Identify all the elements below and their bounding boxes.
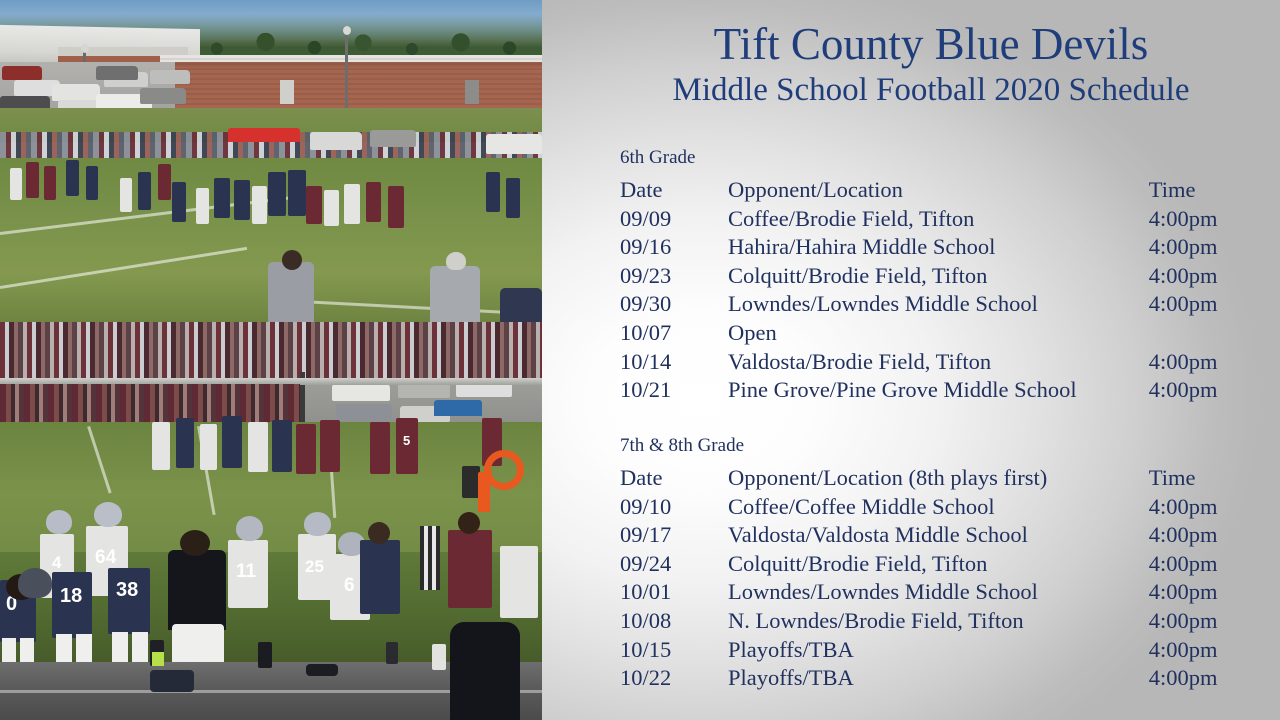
cell-date: 09/09	[620, 205, 728, 234]
opposing-coach	[448, 530, 492, 608]
jersey-number: 11	[236, 562, 256, 581]
cell-date: 09/17	[620, 521, 728, 550]
cell-opponent: N. Lowndes/Brodie Field, Tifton	[728, 607, 1149, 636]
cell-opponent: Pine Grove/Pine Grove Middle School	[728, 376, 1149, 405]
table-row: 09/30 Lowndes/Lowndes Middle School 4:00…	[620, 290, 1270, 319]
down-marker-ring-icon	[484, 450, 524, 490]
jersey-number: 6	[344, 576, 355, 595]
player	[222, 416, 242, 468]
column-header-time: Time	[1149, 176, 1270, 205]
title-block: Tift County Blue Devils Middle School Fo…	[588, 22, 1274, 111]
table-row: 09/16 Hahira/Hahira Middle School 4:00pm	[620, 233, 1270, 262]
water-bottle	[432, 644, 446, 670]
jersey-number: 4	[52, 554, 61, 571]
brick-building-main	[160, 55, 542, 110]
grade-label-6th: 6th Grade	[620, 148, 1270, 167]
cell-opponent: Valdosta/Valdosta Middle School	[728, 521, 1149, 550]
photo-football-game-wide	[0, 0, 542, 322]
table-header-row: Date Opponent/Location (8th plays first)…	[620, 464, 1270, 493]
building-door	[465, 80, 479, 104]
helmet-held	[18, 568, 52, 598]
cell-opponent: Lowndes/Lowndes Middle School	[728, 290, 1149, 319]
light-fixture	[343, 26, 351, 35]
column-header-date: Date	[620, 464, 728, 493]
cell-time: 4:00pm	[1149, 521, 1270, 550]
building-window	[280, 80, 294, 104]
photo-collage: 5 4 64 11 25 6	[0, 0, 542, 720]
red-tent	[228, 128, 300, 142]
player	[370, 422, 390, 474]
bleacher-crowd-lower	[0, 384, 300, 426]
cell-opponent: Coffee/Coffee Middle School	[728, 493, 1149, 522]
cell-date: 09/24	[620, 550, 728, 579]
column-header-date: Date	[620, 176, 728, 205]
player	[248, 422, 268, 472]
table-row: 09/09 Coffee/Brodie Field, Tifton 4:00pm	[620, 205, 1270, 234]
light-fixture	[81, 44, 89, 53]
table-row: 10/08 N. Lowndes/Brodie Field, Tifton 4:…	[620, 607, 1270, 636]
table-row: 09/23 Colquitt/Brodie Field, Tifton 4:00…	[620, 262, 1270, 291]
cell-time: 4:00pm	[1149, 205, 1270, 234]
shoe	[306, 664, 338, 676]
table-row: 10/07 Open	[620, 319, 1270, 348]
grade-label-7th-8th: 7th & 8th Grade	[620, 436, 1270, 455]
player	[196, 188, 209, 224]
column-header-opponent: Opponent/Location	[728, 176, 1149, 205]
player	[158, 164, 171, 200]
player-head	[180, 530, 210, 556]
cell-time: 4:00pm	[1149, 636, 1270, 665]
cell-date: 09/16	[620, 233, 728, 262]
light-pole	[345, 30, 348, 110]
down-marker-pole	[478, 472, 490, 512]
car	[332, 384, 390, 401]
equipment-bag	[150, 670, 194, 692]
cell-opponent: Playoffs/TBA	[728, 664, 1149, 693]
page-subtitle: Middle School Football 2020 Schedule	[588, 69, 1274, 111]
cell-opponent: Open	[728, 319, 1149, 348]
player	[214, 178, 230, 218]
player	[172, 182, 186, 222]
water-bottle	[258, 642, 272, 668]
page-title: Tift County Blue Devils	[588, 22, 1274, 67]
coach-head	[368, 522, 390, 544]
photo-football-sideline: 5 4 64 11 25 6	[0, 322, 542, 720]
player	[152, 422, 170, 470]
cell-date: 10/14	[620, 348, 728, 377]
schedule-table-6th: Date Opponent/Location Time 09/09 Coffee…	[620, 176, 1270, 405]
player	[138, 172, 151, 210]
player	[296, 424, 316, 474]
cell-opponent: Lowndes/Lowndes Middle School	[728, 578, 1149, 607]
car	[310, 132, 362, 150]
cell-time: 4:00pm	[1149, 376, 1270, 405]
cell-opponent: Playoffs/TBA	[728, 636, 1149, 665]
player	[506, 178, 520, 218]
player	[272, 420, 292, 472]
cell-opponent: Valdosta/Brodie Field, Tifton	[728, 348, 1149, 377]
cell-date: 10/08	[620, 607, 728, 636]
player	[388, 186, 404, 228]
helmet	[304, 512, 331, 536]
cell-opponent: Colquitt/Brodie Field, Tifton	[728, 262, 1149, 291]
player	[320, 420, 340, 472]
car	[96, 66, 138, 80]
cell-time: 4:00pm	[1149, 607, 1270, 636]
jersey-number: 25	[305, 558, 324, 575]
helmet	[236, 516, 263, 541]
player	[234, 180, 250, 220]
cell-date: 10/21	[620, 376, 728, 405]
spectator	[500, 288, 542, 322]
cell-date: 09/10	[620, 493, 728, 522]
spectator-head	[282, 250, 302, 270]
player	[66, 160, 79, 196]
column-header-opponent: Opponent/Location (8th plays first)	[728, 464, 1149, 493]
cell-time: 4:00pm	[1149, 578, 1270, 607]
cell-time: 4:00pm	[1149, 493, 1270, 522]
car	[336, 404, 392, 421]
table-row: 09/10 Coffee/Coffee Middle School 4:00pm	[620, 493, 1270, 522]
coach	[360, 540, 400, 614]
water-bottle	[386, 642, 398, 664]
cell-time	[1149, 319, 1270, 348]
car	[486, 134, 542, 154]
cell-time: 4:00pm	[1149, 550, 1270, 579]
player	[44, 166, 56, 200]
cell-date: 09/30	[620, 290, 728, 319]
cell-date: 09/23	[620, 262, 728, 291]
cell-opponent: Colquitt/Brodie Field, Tifton	[728, 550, 1149, 579]
player	[252, 186, 267, 224]
blue-tent	[434, 400, 482, 416]
car	[52, 84, 100, 101]
schedule-section-6th-grade: 6th Grade Date Opponent/Location Time 09…	[620, 148, 1270, 405]
cell-date: 10/15	[620, 636, 728, 665]
player	[268, 172, 286, 216]
table-row: 09/17 Valdosta/Valdosta Middle School 4:…	[620, 521, 1270, 550]
player	[120, 178, 132, 212]
jersey-number: 64	[95, 548, 116, 567]
table-row: 09/24 Colquitt/Brodie Field, Tifton 4:00…	[620, 550, 1270, 579]
jersey-number: 5	[403, 434, 410, 447]
player	[86, 166, 98, 200]
spectator	[268, 262, 314, 322]
car	[140, 88, 186, 104]
player	[26, 162, 39, 198]
spectator	[430, 266, 480, 322]
player	[324, 190, 339, 226]
car	[370, 130, 416, 147]
car	[150, 70, 190, 84]
schedule-table-7th-8th: Date Opponent/Location (8th plays first)…	[620, 464, 1270, 693]
player	[344, 184, 360, 224]
table-header-row: Date Opponent/Location Time	[620, 176, 1270, 205]
player	[366, 182, 381, 222]
cell-date: 10/01	[620, 578, 728, 607]
player-back-view	[168, 550, 226, 630]
player	[500, 546, 538, 618]
jersey-number: 38	[116, 580, 138, 600]
jersey-number: 18	[60, 586, 82, 606]
cell-time: 4:00pm	[1149, 664, 1270, 693]
player	[486, 172, 500, 212]
spectator-cap	[446, 252, 466, 270]
table-row: 10/14 Valdosta/Brodie Field, Tifton 4:00…	[620, 348, 1270, 377]
cell-time: 4:00pm	[1149, 290, 1270, 319]
player	[108, 568, 150, 634]
table-row: 10/01 Lowndes/Lowndes Middle School 4:00…	[620, 578, 1270, 607]
schedule-content: Tift County Blue Devils Middle School Fo…	[542, 0, 1280, 720]
player	[306, 186, 322, 224]
referee	[420, 526, 440, 590]
table-row: 10/21 Pine Grove/Pine Grove Middle Schoo…	[620, 376, 1270, 405]
slide-canvas: 5 4 64 11 25 6	[0, 0, 1280, 720]
cell-time: 4:00pm	[1149, 233, 1270, 262]
schedule-section-7th-8th-grade: 7th & 8th Grade Date Opponent/Location (…	[620, 436, 1270, 693]
cell-time: 4:00pm	[1149, 348, 1270, 377]
cell-date: 10/07	[620, 319, 728, 348]
column-header-time: Time	[1149, 464, 1270, 493]
car	[2, 66, 42, 80]
helmet	[94, 502, 122, 527]
cell-time: 4:00pm	[1149, 262, 1270, 291]
cell-date: 10/22	[620, 664, 728, 693]
player	[200, 424, 217, 470]
player	[288, 170, 306, 216]
bottle-label	[152, 652, 164, 666]
player	[176, 418, 194, 468]
helmet	[46, 510, 72, 534]
cell-opponent: Hahira/Hahira Middle School	[728, 233, 1149, 262]
player	[10, 168, 22, 200]
cell-opponent: Coffee/Brodie Field, Tifton	[728, 205, 1149, 234]
table-row: 10/22 Playoffs/TBA 4:00pm	[620, 664, 1270, 693]
coach-head	[458, 512, 480, 534]
seated-spectator	[450, 622, 520, 720]
table-row: 10/15 Playoffs/TBA 4:00pm	[620, 636, 1270, 665]
